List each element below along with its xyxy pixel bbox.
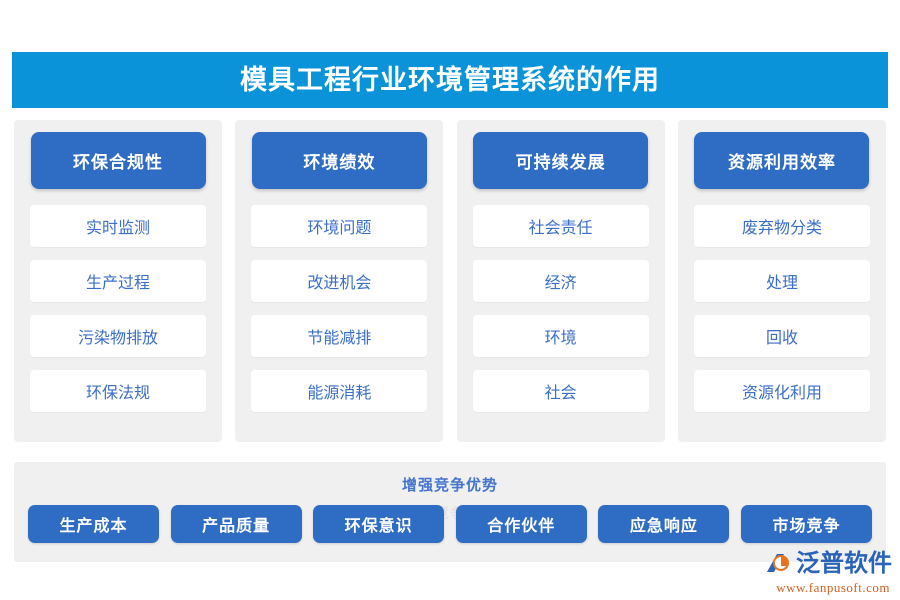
category-header-button-2[interactable]: 环境绩效 bbox=[252, 132, 427, 189]
advantage-section-title: 增强竞争优势 bbox=[402, 474, 498, 495]
category-item[interactable]: 社会责任 bbox=[473, 205, 649, 247]
advantage-button[interactable]: 产品质量 bbox=[171, 505, 302, 543]
category-item[interactable]: 实时监测 bbox=[30, 205, 206, 247]
category-column-1: 环保合规性 实时监测 生产过程 污染物排放 环保法规 bbox=[14, 120, 222, 442]
category-item[interactable]: 环境问题 bbox=[251, 205, 427, 247]
category-columns: 环保合规性 实时监测 生产过程 污染物排放 环保法规 环境绩效 环境问题 改进机… bbox=[14, 120, 886, 442]
advantage-button[interactable]: 应急响应 bbox=[598, 505, 729, 543]
category-column-2: 环境绩效 环境问题 改进机会 节能减排 能源消耗 bbox=[235, 120, 443, 442]
watermark-url: www.fanpusoft.com bbox=[776, 580, 890, 596]
category-item[interactable]: 节能减排 bbox=[251, 315, 427, 357]
category-item[interactable]: 环境 bbox=[473, 315, 649, 357]
page-title: 模具工程行业环境管理系统的作用 bbox=[240, 67, 660, 94]
category-header-button-1[interactable]: 环保合规性 bbox=[31, 132, 206, 189]
category-item[interactable]: 能源消耗 bbox=[251, 370, 427, 412]
category-item[interactable]: 资源化利用 bbox=[694, 370, 870, 412]
advantage-button[interactable]: 合作伙伴 bbox=[456, 505, 587, 543]
category-item[interactable]: 污染物排放 bbox=[30, 315, 206, 357]
category-column-3: 可持续发展 社会责任 经济 环境 社会 bbox=[457, 120, 665, 442]
advantage-section: 增强竞争优势 增强竞争优势 生产成本 产品质量 环保意识 合作伙伴 应急响应 市… bbox=[14, 462, 886, 562]
category-item[interactable]: 改进机会 bbox=[251, 260, 427, 302]
category-header-button-4[interactable]: 资源利用效率 bbox=[694, 132, 869, 189]
advantage-button[interactable]: 生产成本 bbox=[28, 505, 159, 543]
advantage-button[interactable]: 环保意识 bbox=[313, 505, 444, 543]
category-header-button-3[interactable]: 可持续发展 bbox=[473, 132, 648, 189]
category-item[interactable]: 社会 bbox=[473, 370, 649, 412]
category-item[interactable]: 环保法规 bbox=[30, 370, 206, 412]
category-item[interactable]: 废弃物分类 bbox=[694, 205, 870, 247]
page-title-banner: 模具工程行业环境管理系统的作用 bbox=[12, 52, 888, 108]
category-item[interactable]: 经济 bbox=[473, 260, 649, 302]
advantage-button-row: 生产成本 产品质量 环保意识 合作伙伴 应急响应 市场竞争 bbox=[28, 505, 872, 543]
category-item[interactable]: 回收 bbox=[694, 315, 870, 357]
advantage-button[interactable]: 市场竞争 bbox=[741, 505, 872, 543]
category-item[interactable]: 处理 bbox=[694, 260, 870, 302]
category-item[interactable]: 生产过程 bbox=[30, 260, 206, 302]
category-column-4: 资源利用效率 废弃物分类 处理 回收 资源化利用 bbox=[678, 120, 886, 442]
